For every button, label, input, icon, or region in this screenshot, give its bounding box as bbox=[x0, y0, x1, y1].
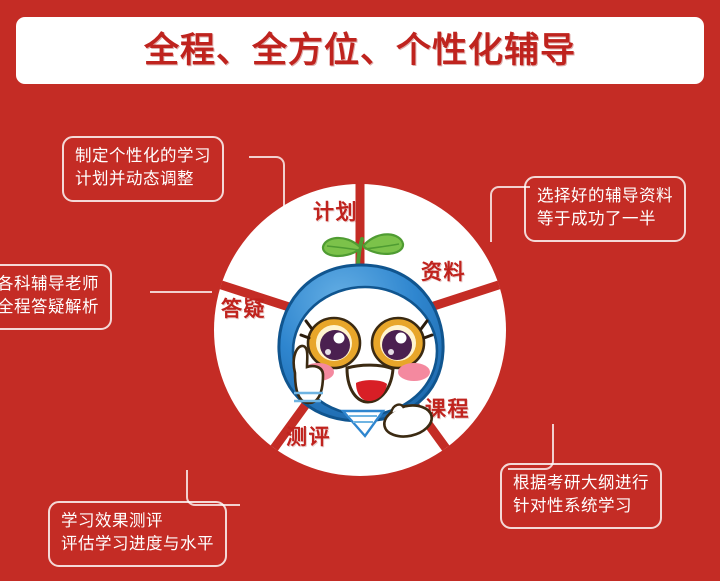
callout-material-line-1: 选择好的辅导资料 bbox=[537, 185, 673, 208]
poster-root: 全程、全方位、个性化辅导 制定个性化的学习 计划并动态调整 各科辅导老师 全程答… bbox=[0, 0, 720, 581]
callout-test: 学习效果测评 评估学习进度与水平 bbox=[48, 501, 227, 567]
callout-course-line-1: 根据考研大纲进行 bbox=[513, 472, 649, 495]
callout-plan-line-1: 制定个性化的学习 bbox=[75, 145, 211, 168]
wheel-label-qa: 答疑 bbox=[221, 293, 266, 323]
callout-course-line-2: 针对性系统学习 bbox=[513, 495, 649, 518]
callout-qa: 各科辅导老师 全程答疑解析 bbox=[0, 264, 112, 330]
callout-material: 选择好的辅导资料 等于成功了一半 bbox=[524, 176, 686, 242]
callout-qa-line-2: 全程答疑解析 bbox=[0, 296, 99, 319]
callout-course: 根据考研大纲进行 针对性系统学习 bbox=[500, 463, 662, 529]
callout-plan-line-2: 计划并动态调整 bbox=[75, 168, 211, 191]
callout-test-line-1: 学习效果测评 bbox=[61, 510, 214, 533]
callout-qa-line-1: 各科辅导老师 bbox=[0, 273, 99, 296]
cheek-right bbox=[398, 363, 430, 381]
callout-test-line-2: 评估学习进度与水平 bbox=[61, 533, 214, 556]
connector-line-qa bbox=[150, 291, 212, 293]
mascot-illustration bbox=[265, 225, 457, 440]
callout-plan: 制定个性化的学习 计划并动态调整 bbox=[62, 136, 224, 202]
collar bbox=[343, 411, 383, 436]
title-banner: 全程、全方位、个性化辅导 bbox=[16, 17, 704, 84]
page-title: 全程、全方位、个性化辅导 bbox=[144, 33, 576, 68]
callout-material-line-2: 等于成功了一半 bbox=[537, 208, 673, 231]
mascot-svg bbox=[265, 225, 457, 440]
wheel-label-plan: 计划 bbox=[313, 196, 358, 226]
